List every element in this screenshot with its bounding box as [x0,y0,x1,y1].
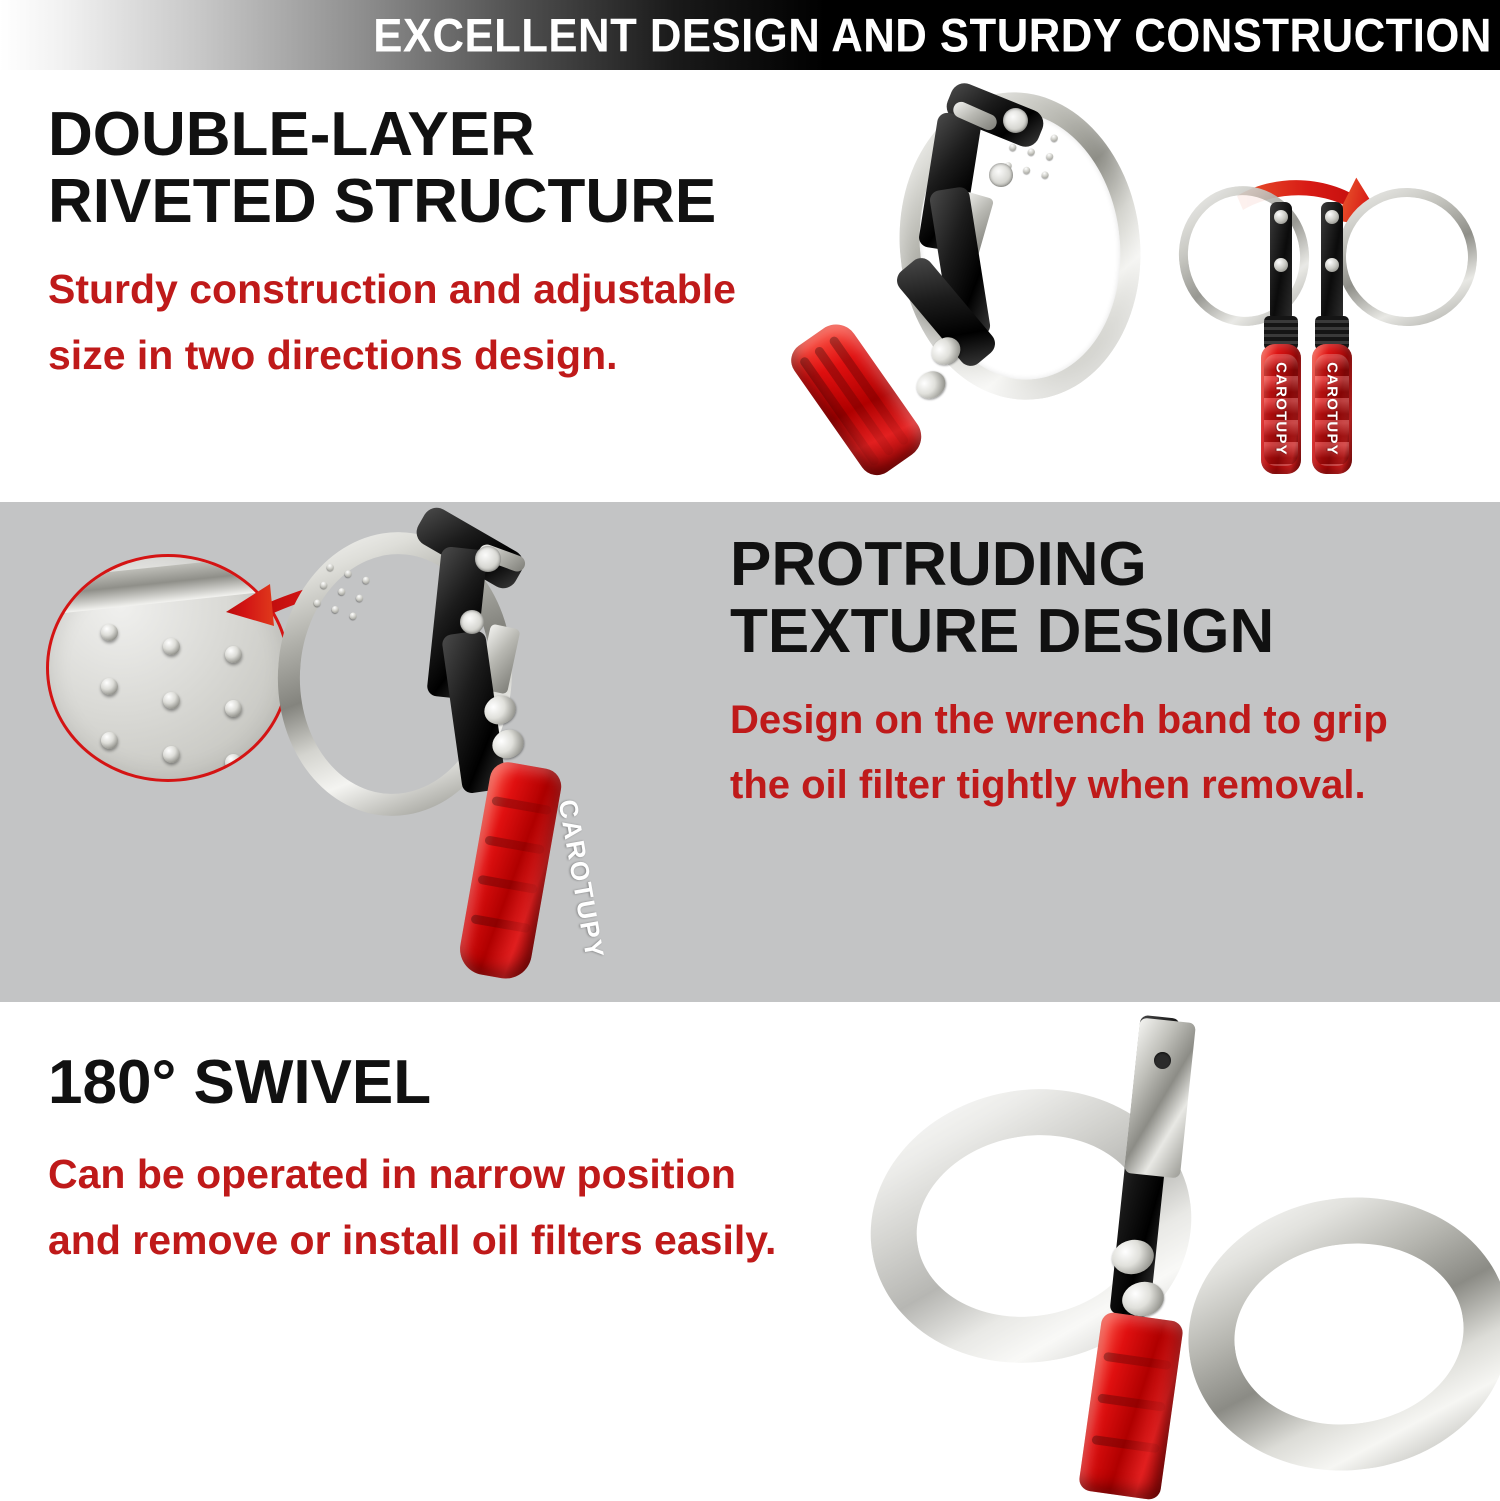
screw-icon [1325,258,1339,272]
body-line: Can be operated in narrow position [48,1141,776,1207]
red-handle-icon [784,316,930,482]
product-photo-wrench-main [760,78,1180,502]
wrench-ratchet-icon [1124,1018,1196,1179]
screw-icon [1274,258,1288,272]
product-photo-swivel-demo [840,1016,1500,1440]
heading-line: 180° SWIVEL [48,1050,776,1117]
swivel-rivet-icon [911,366,950,405]
brand-label: CAROTUPY [552,797,611,962]
section-3-body: Can be operated in narrow position and r… [48,1141,776,1274]
rivet-texture-icon [101,624,287,782]
screw-icon [1274,210,1288,224]
jaw-hole-icon [989,163,1013,187]
section-protruding-texture-design: CAROTUPY PROTRUDING TEXTURE DESIGN Desig… [0,502,1500,1002]
section-2-heading: PROTRUDING TEXTURE DESIGN [730,532,1388,666]
screw-icon [1325,210,1339,224]
header-title: EXCELLENT DESIGN AND STURDY CONSTRUCTION [373,12,1492,59]
stainless-band-icon [1171,1177,1500,1491]
jaw-hole-icon [1003,108,1028,133]
body-line: Design on the wrench band to grip [730,688,1388,753]
jaw-hole-icon [475,546,501,572]
body-line: Sturdy construction and adjustable [48,256,736,322]
heading-line: TEXTURE DESIGN [730,599,1388,666]
section-3-heading: 180° SWIVEL [48,1050,776,1117]
product-photo-swivel-pair: CAROTUPY CAROTUPY [1185,130,1485,502]
body-line: the oil filter tightly when removal. [730,753,1388,818]
heading-line: DOUBLE-LAYER [48,102,736,169]
jaw-hole-icon [460,610,484,634]
brand-label: CAROTUPY [1324,362,1341,456]
section-2-body: Design on the wrench band to grip the oi… [730,688,1388,818]
body-line: and remove or install oil filters easily… [48,1207,776,1273]
red-handle-icon: CAROTUPY [1261,344,1301,474]
heading-line: PROTRUDING [730,532,1388,599]
brand-label: CAROTUPY [1273,362,1290,456]
red-handle-icon: CAROTUPY [1312,344,1352,474]
section-double-layer-riveted-structure: DOUBLE-LAYER RIVETED STRUCTURE Sturdy co… [0,70,1500,502]
header-banner: EXCELLENT DESIGN AND STURDY CONSTRUCTION [0,0,1500,70]
section-1-text-block: DOUBLE-LAYER RIVETED STRUCTURE Sturdy co… [48,102,736,389]
section-3-text-block: 180° SWIVEL Can be operated in narrow po… [48,1050,776,1274]
section-1-body: Sturdy construction and adjustable size … [48,256,736,389]
section-180-degree-swivel: 180° SWIVEL Can be operated in narrow po… [0,1002,1500,1440]
ratchet-hole-icon [1154,1052,1171,1069]
product-photo-wrench-texture: CAROTUPY [262,514,682,1004]
heading-line: RIVETED STRUCTURE [48,169,736,236]
body-line: size in two directions design. [48,322,736,388]
section-2-text-block: PROTRUDING TEXTURE DESIGN Design on the … [730,532,1388,818]
section-1-heading: DOUBLE-LAYER RIVETED STRUCTURE [48,102,736,236]
